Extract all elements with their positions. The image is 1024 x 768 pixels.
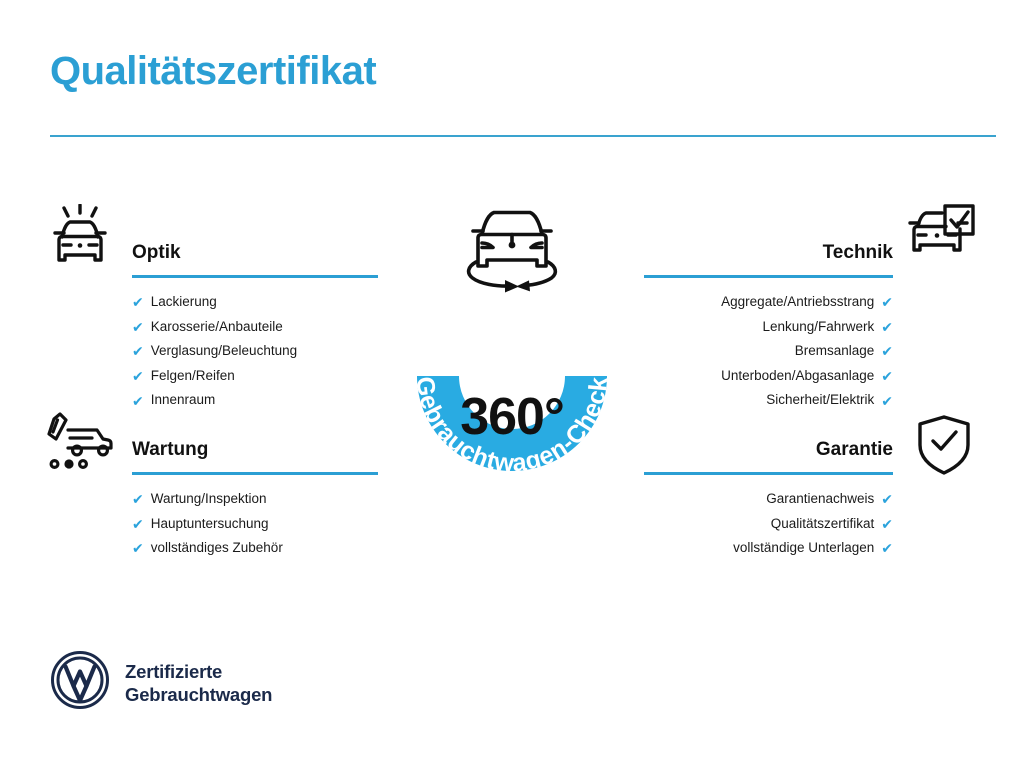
- list-item-label: Lackierung: [151, 290, 217, 315]
- section-title: Technik: [644, 240, 893, 266]
- car-checkbox-icon: [906, 204, 976, 273]
- list-item: ✔vollständiges Zubehör: [132, 536, 378, 561]
- list-item-label: Bremsanlage: [795, 339, 875, 364]
- check-icon: ✔: [132, 517, 144, 531]
- list-item-label: vollständige Unterlagen: [733, 536, 874, 561]
- list-item-label: Felgen/Reifen: [151, 364, 235, 389]
- list-item: Lenkung/Fahrwerk✔: [644, 315, 893, 340]
- check-icon: ✔: [132, 541, 144, 555]
- car-service-tool-icon: [46, 412, 114, 479]
- list-item-label: Sicherheit/Elektrik: [766, 388, 874, 413]
- list-item: vollständige Unterlagen✔: [644, 536, 893, 561]
- shield-check-icon: [916, 414, 972, 481]
- list-item-label: Verglasung/Beleuchtung: [151, 339, 297, 364]
- checklist: Garantienachweis✔ Qualitätszertifikat✔ v…: [644, 487, 893, 561]
- list-item-label: Innenraum: [151, 388, 216, 413]
- vw-brand-lockup: Zertifizierte Gebrauchtwagen: [50, 650, 272, 715]
- list-item-label: Karosserie/Anbauteile: [151, 315, 283, 340]
- section-header: Wartung: [132, 437, 378, 475]
- section-title: Optik: [132, 240, 378, 266]
- list-item-label: Hauptuntersuchung: [151, 512, 269, 537]
- checklist: Aggregate/Antriebsstrang✔ Lenkung/Fahrwe…: [644, 290, 893, 413]
- list-item-label: Wartung/Inspektion: [151, 487, 267, 512]
- checklist: ✔Lackierung ✔Karosserie/Anbauteile ✔Verg…: [132, 290, 378, 413]
- badge-360-check: Gebrauchtwagen-Check 360°: [379, 196, 645, 486]
- check-icon: ✔: [132, 369, 144, 383]
- list-item-label: Lenkung/Fahrwerk: [762, 315, 874, 340]
- check-icon: ✔: [881, 320, 893, 334]
- check-icon: ✔: [881, 492, 893, 506]
- badge-number: 360°: [379, 391, 645, 443]
- list-item: Aggregate/Antriebsstrang✔: [644, 290, 893, 315]
- check-icon: ✔: [132, 394, 144, 408]
- section-garantie: Garantie Garantienachweis✔ Qualitätszert…: [644, 437, 893, 561]
- vw-logo: [50, 650, 110, 715]
- car-shine-icon: [46, 204, 114, 277]
- list-item: Bremsanlage✔: [644, 339, 893, 364]
- check-icon: ✔: [132, 344, 144, 358]
- section-technik: Technik Aggregate/Antriebsstrang✔ Lenkun…: [644, 240, 893, 413]
- list-item: ✔Felgen/Reifen: [132, 364, 378, 389]
- section-divider: [132, 275, 378, 278]
- list-item: ✔Innenraum: [132, 388, 378, 413]
- section-divider: [132, 472, 378, 475]
- section-title: Wartung: [132, 437, 378, 463]
- section-wartung: Wartung ✔Wartung/Inspektion ✔Hauptunters…: [132, 437, 378, 561]
- header-divider: [50, 135, 996, 137]
- list-item: Garantienachweis✔: [644, 487, 893, 512]
- list-item: Qualitätszertifikat✔: [644, 512, 893, 537]
- list-item-label: Unterboden/Abgasanlage: [721, 364, 874, 389]
- list-item: ✔Karosserie/Anbauteile: [132, 315, 378, 340]
- section-header: Technik: [644, 240, 893, 278]
- check-icon: ✔: [881, 295, 893, 309]
- list-item: ✔Wartung/Inspektion: [132, 487, 378, 512]
- list-item-label: Garantienachweis: [766, 487, 874, 512]
- section-divider: [644, 472, 893, 475]
- checklist: ✔Wartung/Inspektion ✔Hauptuntersuchung ✔…: [132, 487, 378, 561]
- vw-wordmark-line1: Zertifizierte: [125, 660, 272, 683]
- section-title: Garantie: [644, 437, 893, 463]
- check-icon: ✔: [132, 320, 144, 334]
- section-optik: Optik ✔Lackierung ✔Karosserie/Anbauteile…: [132, 240, 378, 413]
- list-item: ✔Verglasung/Beleuchtung: [132, 339, 378, 364]
- check-icon: ✔: [881, 541, 893, 555]
- list-item: ✔Lackierung: [132, 290, 378, 315]
- list-item-label: vollständiges Zubehör: [151, 536, 283, 561]
- check-icon: ✔: [881, 394, 893, 408]
- list-item: Sicherheit/Elektrik✔: [644, 388, 893, 413]
- section-header: Optik: [132, 240, 378, 278]
- check-icon: ✔: [881, 517, 893, 531]
- section-header: Garantie: [644, 437, 893, 475]
- car-360-rotation-icon: [456, 196, 568, 309]
- vw-wordmark: Zertifizierte Gebrauchtwagen: [125, 660, 272, 706]
- check-icon: ✔: [132, 295, 144, 309]
- check-icon: ✔: [881, 369, 893, 383]
- section-divider: [644, 275, 893, 278]
- page-title: Qualitätszertifikat: [50, 48, 376, 94]
- check-icon: ✔: [132, 492, 144, 506]
- check-icon: ✔: [881, 344, 893, 358]
- list-item-label: Aggregate/Antriebsstrang: [721, 290, 874, 315]
- list-item: Unterboden/Abgasanlage✔: [644, 364, 893, 389]
- list-item-label: Qualitätszertifikat: [771, 512, 875, 537]
- vw-wordmark-line2: Gebrauchtwagen: [125, 683, 272, 706]
- list-item: ✔Hauptuntersuchung: [132, 512, 378, 537]
